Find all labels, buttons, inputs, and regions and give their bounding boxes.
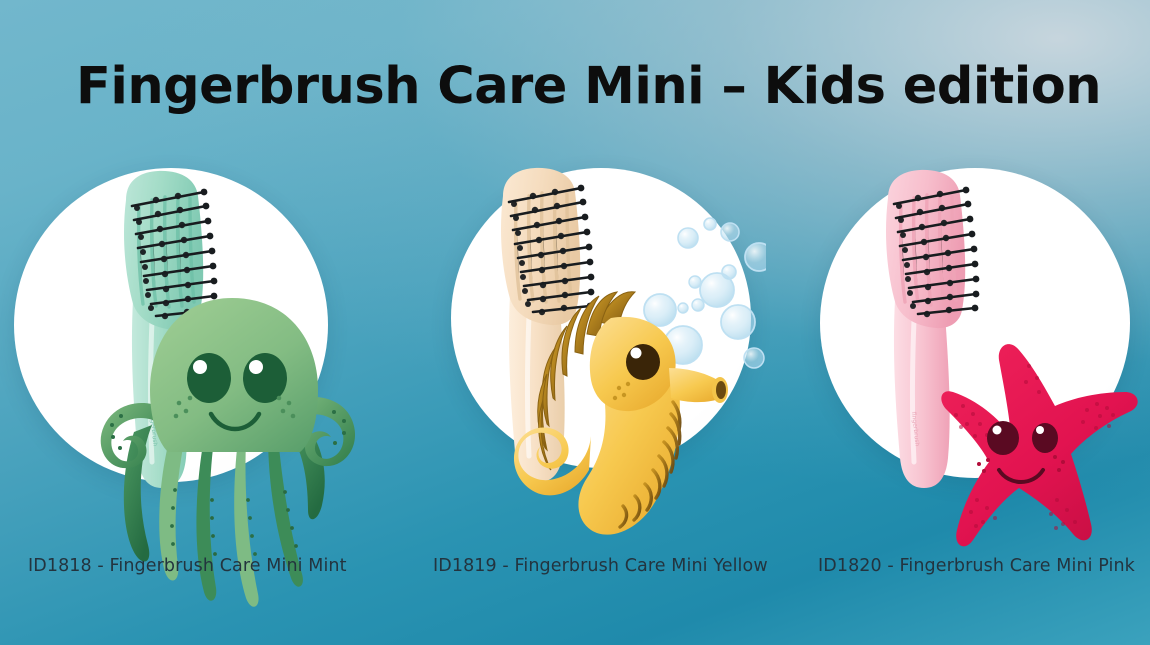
product-artwork-pink: fingerbrush	[767, 0, 1150, 645]
product-panel-pink[interactable]: fingerbrush	[767, 0, 1150, 645]
product-caption-mint: ID1818 - Fingerbrush Care Mini Mint	[28, 556, 347, 576]
product-caption-yellow: ID1819 - Fingerbrush Care Mini Yellow	[433, 556, 768, 576]
product-panel-yellow[interactable]	[383, 0, 766, 645]
product-caption-pink: ID1820 - Fingerbrush Care Mini Pink	[818, 556, 1135, 576]
product-artwork-yellow	[383, 0, 766, 645]
starfish-mascot	[941, 344, 1137, 546]
product-panel-mint[interactable]: fingerbrush	[0, 0, 383, 645]
promo-banner: Fingerbrush Care Mini – Kids edition	[0, 0, 1150, 645]
product-panels: fingerbrush	[0, 0, 1150, 645]
product-artwork-mint: fingerbrush	[0, 0, 383, 645]
hairbrush-pink: fingerbrush	[886, 170, 979, 488]
